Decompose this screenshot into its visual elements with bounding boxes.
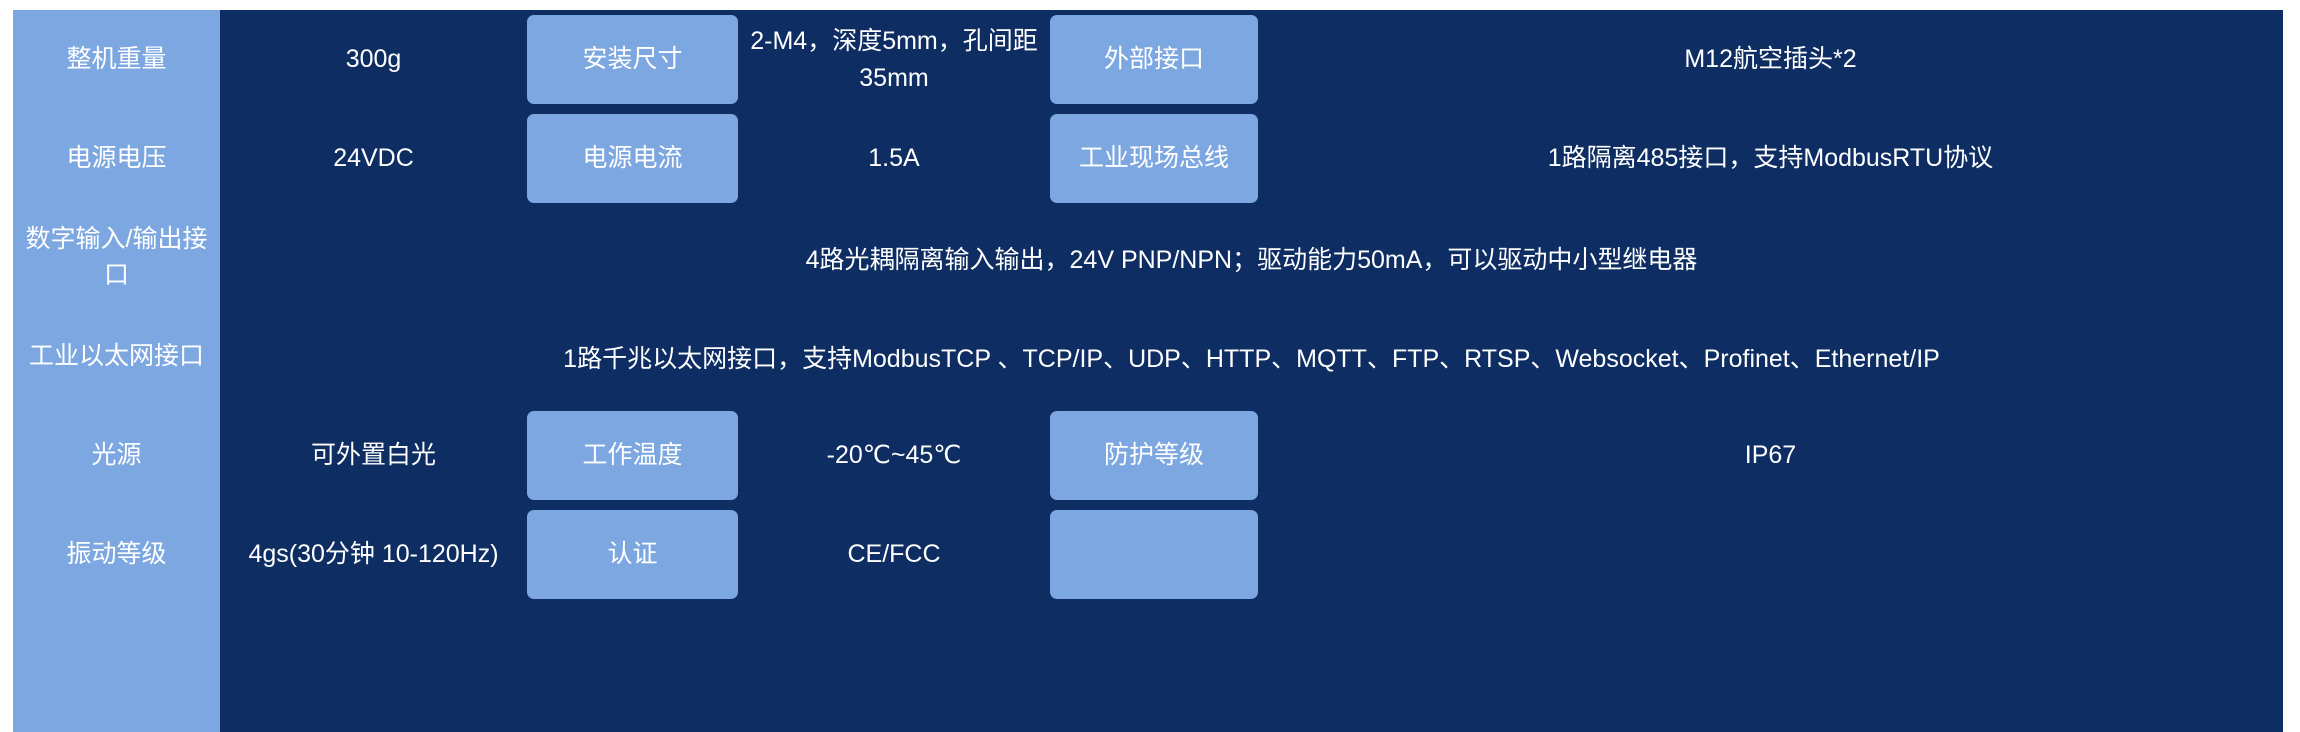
row-value-2: 2-M4，深度5mm，孔间距35mm [738, 10, 1050, 109]
row-key-2: 工作温度 [527, 406, 738, 505]
row-label: 振动等级 [13, 505, 220, 604]
row-key-2-chip: 安装尺寸 [527, 15, 738, 104]
row-value-3: IP67 [1258, 406, 2283, 505]
spec-table: 整机重量 300g 安装尺寸 2-M4，深度5mm，孔间距35mm 外部接口 M… [0, 0, 2300, 732]
row-value-3: 1路隔离485接口，支持ModbusRTU协议 [1258, 109, 2283, 208]
row-value-full: 4路光耦隔离输入输出，24V PNP/NPN；驱动能力50mA，可以驱动中小型继… [220, 208, 2283, 307]
row-value-2: 1.5A [738, 109, 1050, 208]
row-value-2: -20℃~45℃ [738, 406, 1050, 505]
row-value-1: 300g [220, 10, 527, 109]
row-key-3: 外部接口 [1050, 10, 1258, 109]
row-value-1: 24VDC [220, 109, 527, 208]
row-value-full: 1路千兆以太网接口，支持ModbusTCP 、TCP/IP、UDP、HTTP、M… [220, 307, 2283, 406]
row-value-3 [1258, 505, 2283, 604]
row-label: 工业以太网接口 [13, 307, 220, 406]
row-label: 整机重量 [13, 10, 220, 109]
row-key-2: 安装尺寸 [527, 10, 738, 109]
row-value-full-text: 4路光耦隔离输入输出，24V PNP/NPN；驱动能力50mA，可以驱动中小型继… [806, 240, 1698, 276]
row-value-full-text: 1路千兆以太网接口，支持ModbusTCP 、TCP/IP、UDP、HTTP、M… [563, 339, 1940, 375]
row-key-2-chip: 认证 [527, 510, 738, 599]
row-key-3: 工业现场总线 [1050, 109, 1258, 208]
row-key-2: 认证 [527, 505, 738, 604]
row-key-3-chip: 防护等级 [1050, 411, 1258, 500]
row-key-2-chip: 电源电流 [527, 114, 738, 203]
row-key-3: 防护等级 [1050, 406, 1258, 505]
row-label: 电源电压 [13, 109, 220, 208]
row-key-2-chip: 工作温度 [527, 411, 738, 500]
row-label: 数字输入/输出接口 [13, 208, 220, 307]
row-key-3-chip: 工业现场总线 [1050, 114, 1258, 203]
row-value-2: CE/FCC [738, 505, 1050, 604]
row-key-2: 电源电流 [527, 109, 738, 208]
row-value-3: M12航空插头*2 [1258, 10, 2283, 109]
table-row: 整机重量 300g 安装尺寸 2-M4，深度5mm，孔间距35mm 外部接口 M… [13, 10, 2283, 109]
table-row: 电源电压 24VDC 电源电流 1.5A 工业现场总线 1路隔离485接口，支持… [13, 109, 2283, 208]
row-key-3-chip: 外部接口 [1050, 15, 1258, 104]
row-value-1: 4gs(30分钟 10-120Hz) [220, 505, 527, 604]
row-key-3 [1050, 505, 1258, 604]
row-key-3-chip [1050, 510, 1258, 599]
row-value-1: 可外置白光 [220, 406, 527, 505]
row-label: 光源 [13, 406, 220, 505]
table-row: 振动等级 4gs(30分钟 10-120Hz) 认证 CE/FCC [13, 505, 2283, 604]
table-row: 光源 可外置白光 工作温度 -20℃~45℃ 防护等级 IP67 [13, 406, 2283, 505]
